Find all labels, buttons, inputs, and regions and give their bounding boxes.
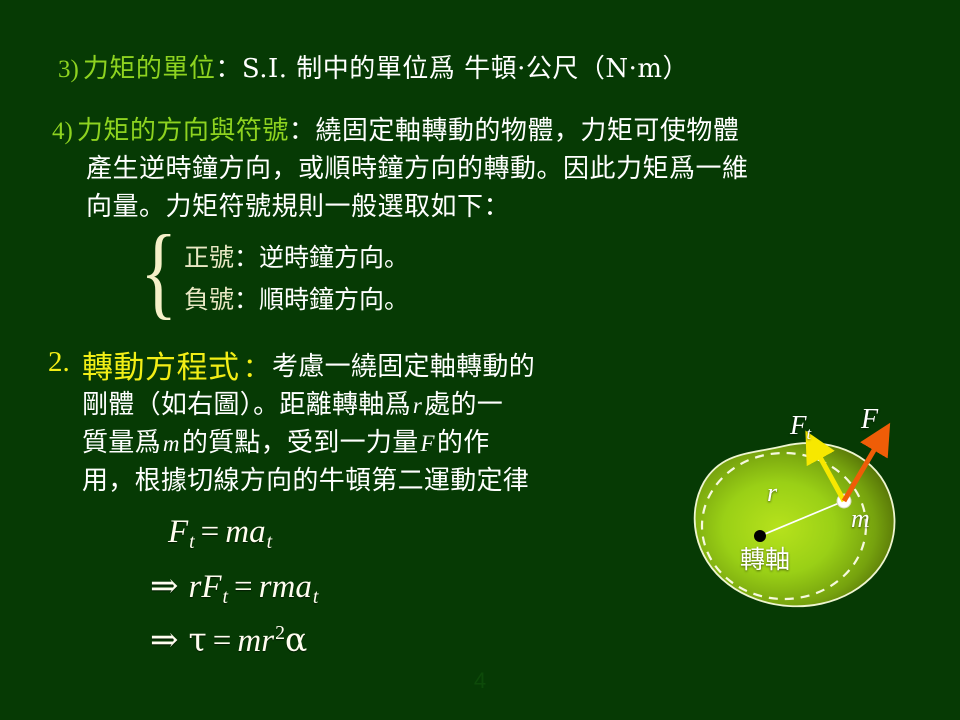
rotation-axis-label: 轉軸 xyxy=(740,540,790,576)
equation-2-rhs-sub: t xyxy=(312,586,319,608)
equation-1: Ft=mat xyxy=(168,514,272,554)
sign-rule-positive-text: 逆時鐘方向。 xyxy=(259,243,409,272)
equation-2: ⇒rFt=rmat xyxy=(150,566,318,609)
sign-rule-negative-text: 順時鐘方向。 xyxy=(259,285,409,314)
implies-arrow-icon-1: ⇒ xyxy=(150,568,189,605)
section-2-line-2-b: 處的一 xyxy=(424,390,503,420)
equation-3-exponent: 2 xyxy=(274,622,285,644)
sign-rule-negative-label: 負號 xyxy=(184,285,234,314)
item-4-body-line-1: 繞固定軸轉動的物體，力矩可使物體 xyxy=(315,116,739,146)
equation-3-tau: τ xyxy=(189,620,207,659)
sign-rule-positive-colon: ： xyxy=(234,243,259,272)
equation-1-lhs: F xyxy=(168,514,188,550)
rigid-body-rotation-diagram: r m 轉軸 Ft F xyxy=(676,408,960,634)
var-m-inline: m xyxy=(161,431,182,456)
equation-2-prefix: r xyxy=(189,569,202,605)
equation-2-rhs: rma xyxy=(259,569,312,605)
equation-2-operator: = xyxy=(228,569,259,605)
diagram-svg xyxy=(676,408,960,634)
list-item-3: 3) 力矩的單位：S.I. 制中的單位爲 牛頓·公尺（N·m） xyxy=(58,48,689,85)
var-r-inline: r xyxy=(411,393,424,418)
equation-1-operator: = xyxy=(195,514,226,550)
tangential-force-label-F: F xyxy=(790,410,807,440)
item-4-colon: ： xyxy=(289,116,316,146)
item-4-heading: 力矩的方向與符號 xyxy=(77,116,289,146)
sign-rule-negative: 負號：順時鐘方向。 xyxy=(184,280,409,316)
section-2-line-3-a: 質量爲 xyxy=(82,428,161,458)
sign-rule-negative-colon: ： xyxy=(234,285,259,314)
section-2-line-3-c: 的作 xyxy=(437,428,490,458)
force-label: F xyxy=(861,404,878,436)
slide-canvas: 3) 力矩的單位：S.I. 制中的單位爲 牛頓·公尺（N·m） 4) 力矩的方向… xyxy=(0,0,960,720)
section-2-line-2: 剛體（如右圖）。距離轉軸爲r處的一 xyxy=(82,384,503,421)
sign-rule-positive: 正號：逆時鐘方向。 xyxy=(184,238,409,274)
section-2-line-4: 用，根據切線方向的牛頓第二運動定律 xyxy=(82,460,529,497)
equation-3-operator: = xyxy=(207,623,238,659)
section-2-line-3: 質量爲m的質點，受到一力量F的作 xyxy=(82,422,490,459)
sign-rule-brace-block: { 正號：逆時鐘方向。 負號：順時鐘方向。 xyxy=(140,234,560,322)
section-2-line-2-a: 剛體（如右圖）。距離轉軸爲 xyxy=(82,390,411,420)
item-4-body-line-2: 產生逆時鐘方向，或順時鐘方向的轉動。因此力矩爲一維 xyxy=(86,148,749,185)
list-item-4: 4) 力矩的方向與符號：繞固定軸轉動的物體，力矩可使物體 xyxy=(52,110,739,147)
section-2-colon: ： xyxy=(243,346,270,385)
sign-rule-positive-label: 正號 xyxy=(184,243,234,272)
section-2-line-1: 考慮一繞固定軸轉動的 xyxy=(272,346,535,383)
curly-brace-icon: { xyxy=(140,222,177,322)
equation-1-rhs: ma xyxy=(225,514,265,550)
tangential-force-label: Ft xyxy=(790,410,811,444)
mass-label: m xyxy=(851,504,870,534)
radius-label: r xyxy=(767,478,777,508)
item-3-heading: 力矩的單位 xyxy=(83,54,216,84)
item-3-colon: ： xyxy=(215,54,242,84)
item-4-marker: 4) xyxy=(52,118,73,146)
page-number: 4 xyxy=(0,668,960,694)
item-3-body: S.I. 制中的單位爲 牛頓·公尺（N·m） xyxy=(242,54,689,84)
section-2-title: 轉動方程式 xyxy=(82,342,240,387)
equation-1-lhs-sub: t xyxy=(188,531,195,553)
tangential-force-label-sub: t xyxy=(807,424,812,443)
var-F-inline: F xyxy=(419,431,437,456)
section-2-marker: 2. xyxy=(48,346,70,379)
implies-arrow-icon-2: ⇒ xyxy=(150,622,189,659)
item-3-marker: 3) xyxy=(58,56,79,84)
equation-2-lhs: F xyxy=(201,569,221,605)
equation-3-rhs: mr xyxy=(237,623,274,659)
section-2-line-3-b: 的質點，受到一力量 xyxy=(182,428,419,458)
equation-3-alpha: α xyxy=(285,620,307,659)
equation-3: ⇒τ=mr2α xyxy=(150,620,307,660)
equation-1-rhs-sub: t xyxy=(266,531,273,553)
